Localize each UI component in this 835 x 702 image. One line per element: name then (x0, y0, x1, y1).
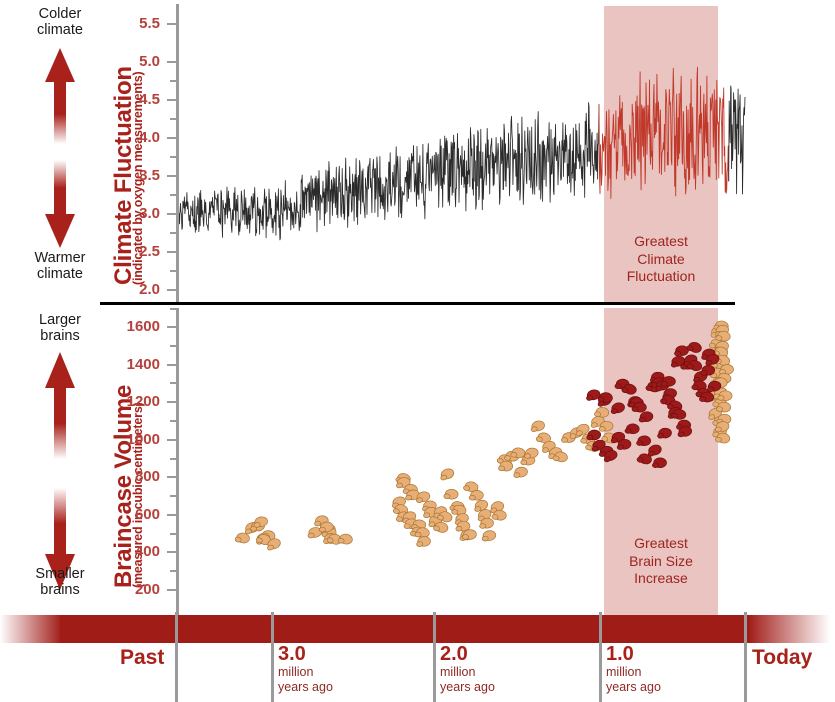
timeline-tick-1.0: 1.0 million years ago (606, 644, 661, 695)
climate-tick-minor (170, 270, 176, 272)
climate-tick-minor (170, 80, 176, 82)
timeline-tick-3.0-unit2: years ago (278, 680, 333, 695)
note1-line3: Fluctuation (627, 268, 695, 284)
note2-line1: Greatest (634, 535, 688, 551)
climate-bottom-label-line2: climate (37, 266, 83, 282)
timeline-tick-2.0-unit1: million (440, 665, 495, 680)
scatter-marker (610, 402, 626, 415)
brain-tick-major (167, 401, 176, 403)
timeline-tick-3.0-value: 3.0 (278, 644, 333, 665)
scatter-marker (637, 436, 651, 446)
climate-top-label-line2: climate (37, 22, 83, 38)
climate-tick-minor (170, 194, 176, 196)
brain-tick-label: 1200 (100, 393, 160, 410)
scatter-marker (338, 533, 354, 545)
scatter-marker (523, 447, 538, 459)
climate-tick-minor (170, 232, 176, 234)
brain-tick-minor (170, 420, 176, 422)
brain-tick-major (167, 364, 176, 366)
brain-tick-minor (170, 570, 176, 572)
brain-tick-minor (170, 382, 176, 384)
scatter-marker (638, 411, 653, 422)
climate-tick-major (167, 175, 176, 177)
brain-tick-minor (170, 533, 176, 535)
brain-top-label-line1: Larger (39, 312, 81, 328)
brain-tick-major (167, 514, 176, 516)
brain-tick-label: 800 (100, 468, 160, 485)
climate-tick-major (167, 137, 176, 139)
brain-tick-label: 1400 (100, 356, 160, 373)
timeline-gridline-1.0 (599, 612, 602, 702)
timeline-tick-1.0-unit1: million (606, 665, 661, 680)
scatter-marker (700, 365, 714, 375)
climate-tick-major (167, 23, 176, 25)
timeline-bar (60, 615, 750, 643)
brain-tick-major (167, 589, 176, 591)
scatter-marker (594, 407, 609, 418)
scatter-marker (511, 447, 526, 458)
brain-bottom-label-line2: brains (40, 582, 80, 598)
timeline-fade-right (748, 615, 830, 643)
note1-line1: Greatest (634, 233, 688, 249)
scatter-marker (530, 420, 546, 433)
colder-warmer-arrow-icon (40, 48, 80, 248)
scatter-marker (625, 424, 640, 435)
climate-tick-label: 2.0 (100, 281, 160, 298)
scatter-marker (646, 443, 662, 456)
climate-tick-minor (170, 156, 176, 158)
brain-tick-label: 200 (100, 581, 160, 598)
scatter-marker (253, 516, 269, 528)
brain-tick-label: 600 (100, 506, 160, 523)
timeline-gridline-2.0 (433, 612, 436, 702)
climate-tick-major (167, 61, 176, 63)
timeline-gridline-3.0 (271, 612, 274, 702)
climate-top-label-line1: Colder (39, 6, 82, 22)
timeline-fade-left (0, 615, 62, 643)
brain-tick-major (167, 439, 176, 441)
scatter-marker (481, 530, 496, 542)
climate-tick-major (167, 251, 176, 253)
climate-tick-label: 4.5 (100, 91, 160, 108)
timeline-tick-3.0: 3.0 million years ago (278, 644, 333, 695)
brain-tick-minor (170, 495, 176, 497)
scatter-marker (444, 489, 459, 500)
note2-line3: Increase (634, 570, 688, 586)
panel-separator (100, 302, 735, 305)
timeline-tick-2.0-value: 2.0 (440, 644, 495, 665)
climate-bottom-label-line1: Warmer (34, 250, 85, 266)
brain-tick-minor (170, 345, 176, 347)
climate-tick-label: 5.5 (100, 15, 160, 32)
climate-tick-label: 4.0 (100, 129, 160, 146)
scatter-marker (416, 536, 431, 547)
timeline-tick-3.0-unit1: million (278, 665, 333, 680)
climate-series-segment (729, 86, 745, 194)
brain-top-label-line2: brains (40, 328, 80, 344)
infographic-root: Colder climate Warmer climate Climate Fl… (0, 0, 835, 702)
climate-tick-major (167, 213, 176, 215)
brain-bottom-label-line1: Smaller (35, 566, 84, 582)
note2-line2: Brain Size (629, 553, 693, 569)
brain-tick-label: 1000 (100, 431, 160, 448)
note1-line2: Climate (637, 251, 684, 267)
brain-tick-minor (170, 458, 176, 460)
scatter-marker (652, 458, 666, 468)
scatter-marker (586, 430, 600, 440)
brain-tick-major (167, 476, 176, 478)
climate-series-segment (599, 67, 729, 198)
timeline-gridline-today (744, 612, 747, 702)
timeline-tick-2.0: 2.0 million years ago (440, 644, 495, 695)
scatter-marker (513, 466, 528, 478)
greatest-climate-fluctuation-note: Greatest Climate Fluctuation (604, 233, 718, 286)
climate-tick-label: 3.0 (100, 205, 160, 222)
larger-smaller-brains-arrow-icon (40, 352, 80, 590)
timeline-today-label: Today (752, 646, 812, 670)
timeline-tick-1.0-unit2: years ago (606, 680, 661, 695)
timeline-tick-1.0-value: 1.0 (606, 644, 661, 665)
climate-series-segment (176, 103, 599, 240)
climate-tick-major (167, 99, 176, 101)
timeline-tick-2.0-unit2: years ago (440, 680, 495, 695)
scatter-marker (686, 340, 703, 354)
climate-tick-minor (170, 118, 176, 120)
climate-tick-major (167, 289, 176, 291)
brain-tick-label: 1600 (100, 318, 160, 335)
brain-tick-major (167, 326, 176, 328)
brain-tick-label: 400 (100, 543, 160, 560)
climate-tick-label: 5.0 (100, 53, 160, 70)
climate-tick-label: 3.5 (100, 167, 160, 184)
timeline-gridline-past (175, 612, 178, 702)
greatest-brain-size-increase-note: Greatest Brain Size Increase (604, 535, 718, 588)
brain-tick-major (167, 551, 176, 553)
scatter-marker (674, 345, 689, 356)
scatter-marker (657, 428, 672, 439)
scatter-marker (439, 467, 455, 480)
climate-y-axis (176, 4, 179, 303)
timeline-past-label: Past (120, 646, 164, 670)
brain-y-axis (176, 308, 179, 615)
climate-tick-label: 2.5 (100, 243, 160, 260)
